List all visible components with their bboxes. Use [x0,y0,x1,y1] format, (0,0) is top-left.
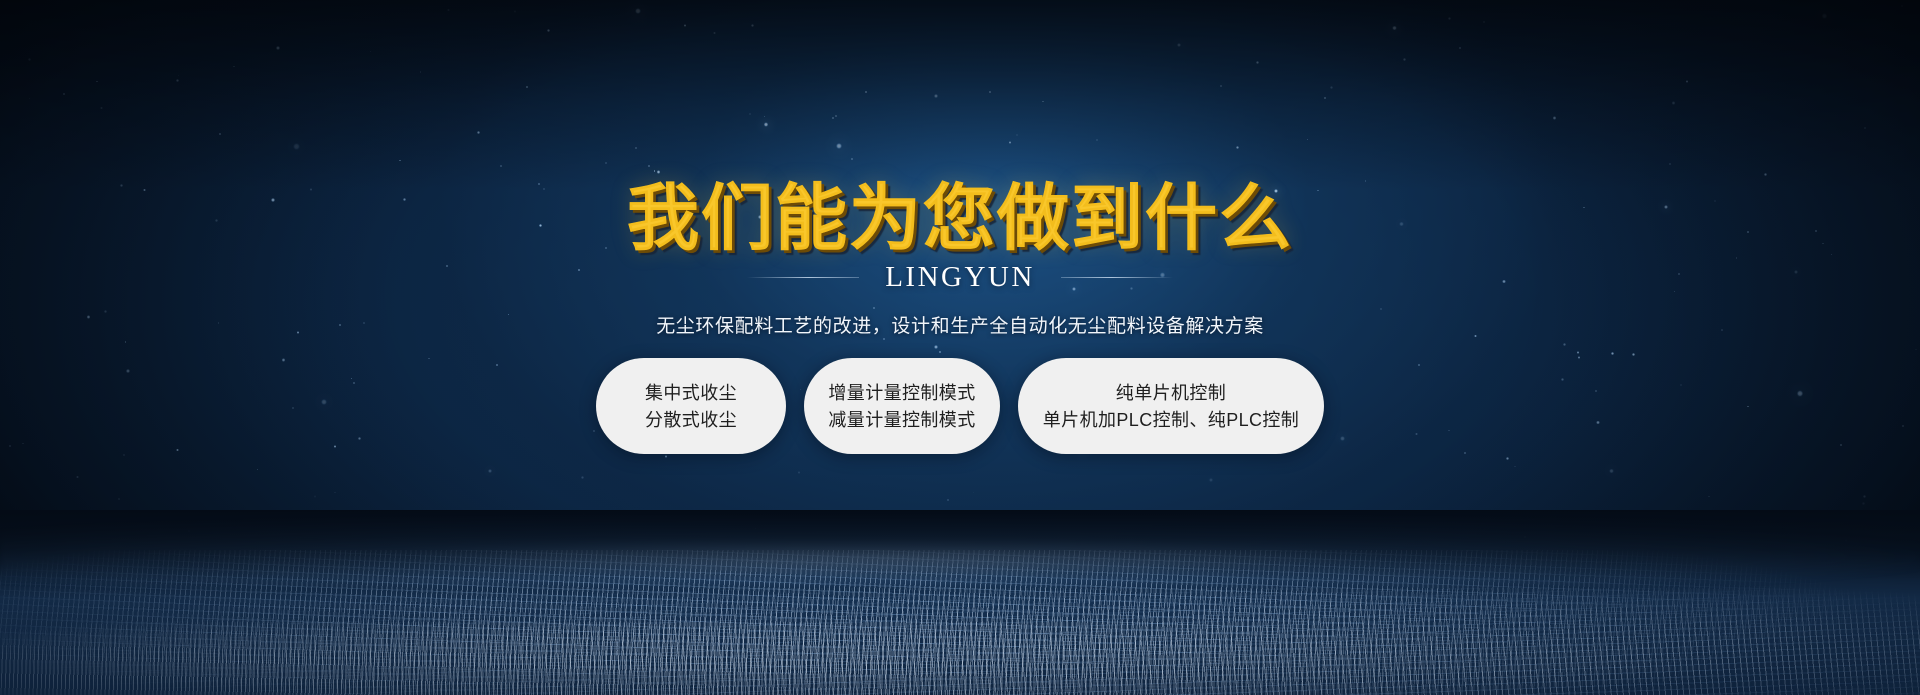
hero-banner: 我们能为您做到什么 LINGYUN 无尘环保配料工艺的改进，设计和生产全自动化无… [0,0,1920,695]
banner-content: 我们能为您做到什么 LINGYUN 无尘环保配料工艺的改进，设计和生产全自动化无… [0,0,1920,695]
feature-pill[interactable]: 集中式收尘 分散式收尘 [596,358,786,454]
feature-pill[interactable]: 增量计量控制模式 减量计量控制模式 [804,358,1000,454]
banner-headline: 我们能为您做到什么 [0,183,1920,255]
pill-line-primary: 增量计量控制模式 [828,384,975,402]
pill-line-secondary: 分散式收尘 [645,411,737,429]
pill-line-primary: 纯单片机控制 [1116,384,1226,402]
feature-pill[interactable]: 纯单片机控制 单片机加PLC控制、纯PLC控制 [1018,358,1324,454]
brand-divider-right [1061,277,1173,278]
banner-subtitle: 无尘环保配料工艺的改进，设计和生产全自动化无尘配料设备解决方案 [0,311,1920,338]
brand-divider-left [747,277,859,278]
feature-pill-list: 集中式收尘 分散式收尘 增量计量控制模式 减量计量控制模式 纯单片机控制 单片机… [0,358,1920,454]
pill-line-secondary: 减量计量控制模式 [828,411,975,429]
brand-row: LINGYUN [0,263,1920,292]
pill-line-primary: 集中式收尘 [645,384,737,402]
brand-name: LINGYUN [885,263,1035,292]
pill-line-secondary: 单片机加PLC控制、纯PLC控制 [1043,411,1299,429]
